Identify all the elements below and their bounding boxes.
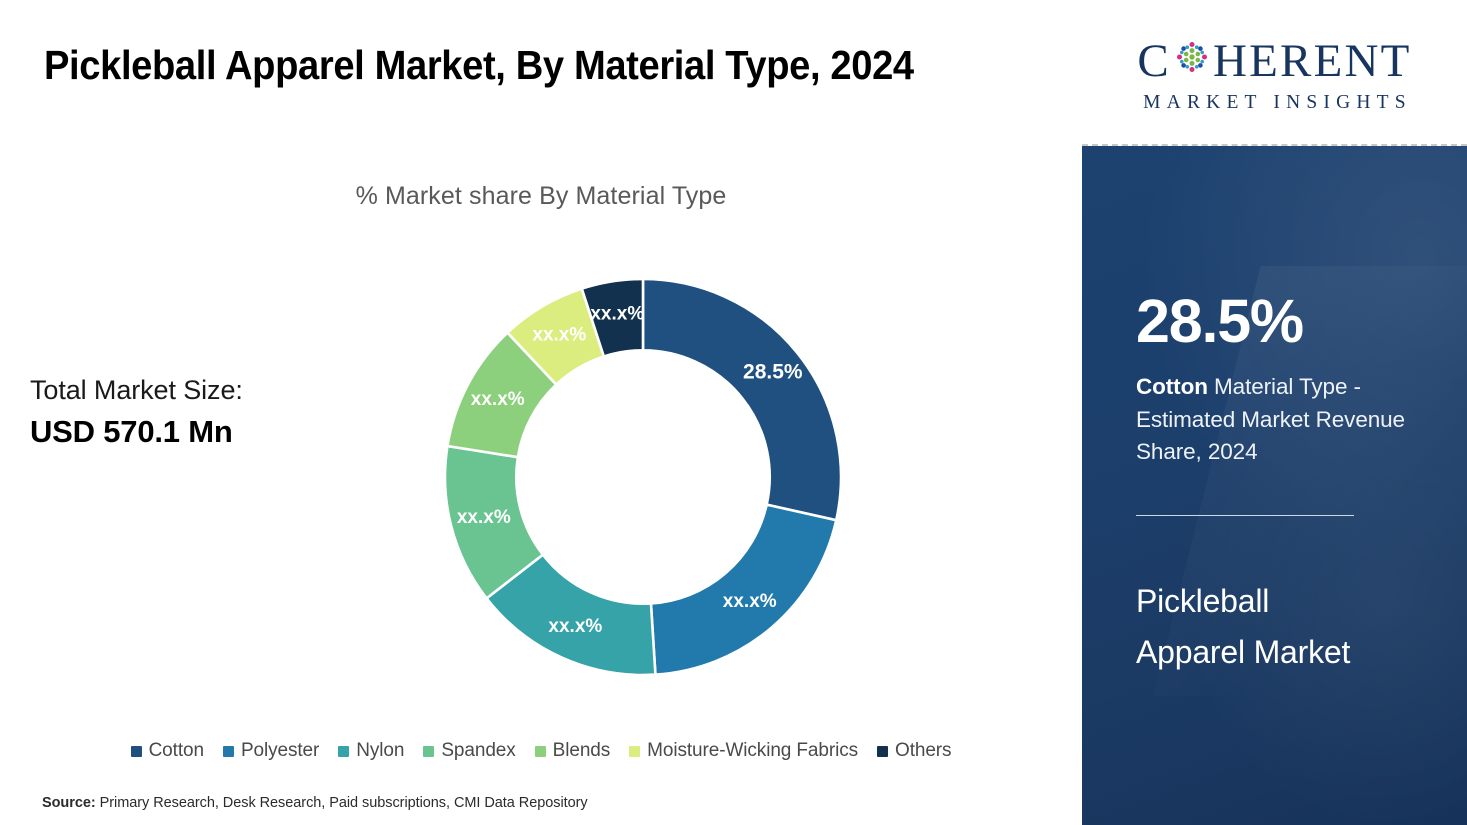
legend-swatch-polyester xyxy=(223,746,234,757)
highlight-stat-description: Cotton Material Type - Estimated Market … xyxy=(1136,371,1428,469)
total-market-size-label: Total Market Size: xyxy=(30,371,410,410)
legend-label-moisture-wicking-fabrics: Moisture-Wicking Fabrics xyxy=(647,740,858,762)
infographic-page: Pickleball Apparel Market, By Material T… xyxy=(0,0,1467,825)
brand-wordmark: C xyxy=(1137,37,1411,86)
legend-swatch-moisture-wicking-fabrics xyxy=(629,746,640,757)
highlight-content: 28.5% Cotton Material Type - Estimated M… xyxy=(1082,146,1467,678)
legend-label-cotton: Cotton xyxy=(149,740,204,762)
legend-swatch-spandex xyxy=(423,746,434,757)
donut-slice-label-spandex: xx.x% xyxy=(457,507,511,528)
legend-item-blends[interactable]: Blends xyxy=(535,740,611,762)
globe-icon xyxy=(1172,37,1212,86)
legend-label-others: Others xyxy=(895,740,951,762)
donut-slice-label-moisture-wicking-fabrics: xx.x% xyxy=(532,325,586,346)
brand-tagline: MARKET INSIGHTS xyxy=(1137,92,1412,114)
source-label: Source: xyxy=(42,795,96,811)
donut-slice-label-polyester: xx.x% xyxy=(723,591,777,612)
page-title: Pickleball Apparel Market, By Material T… xyxy=(44,36,937,94)
legend-item-polyester[interactable]: Polyester xyxy=(223,740,319,762)
total-market-size-value: USD 570.1 Mn xyxy=(30,410,410,454)
chart-subtitle: % Market share By Material Type xyxy=(0,182,1082,211)
legend-item-spandex[interactable]: Spandex xyxy=(423,740,515,762)
highlight-market-name-line1: Pickleball xyxy=(1136,576,1436,627)
highlight-divider xyxy=(1136,515,1354,516)
legend-swatch-nylon xyxy=(338,746,349,757)
source-note: Source: Primary Research, Desk Research,… xyxy=(42,795,588,811)
chart-panel: Pickleball Apparel Market, By Material T… xyxy=(0,0,1082,825)
legend-label-blends: Blends xyxy=(553,740,611,762)
donut-slice-cotton[interactable] xyxy=(643,279,841,520)
total-market-size: Total Market Size: USD 570.1 Mn xyxy=(30,371,410,454)
highlight-segment-name: Cotton xyxy=(1136,374,1208,399)
legend-item-cotton[interactable]: Cotton xyxy=(131,740,204,762)
highlight-market-name-line2: Apparel Market xyxy=(1136,627,1436,678)
highlight-stat-value: 28.5% xyxy=(1136,291,1439,352)
donut-chart: 28.5%xx.x%xx.x%xx.x%xx.x%xx.x%xx.x% xyxy=(436,270,850,684)
donut-slice-polyester[interactable] xyxy=(651,505,836,675)
brand-logo: C xyxy=(1082,0,1467,146)
legend-swatch-blends xyxy=(535,746,546,757)
legend-swatch-cotton xyxy=(131,746,142,757)
legend-item-moisture-wicking-fabrics[interactable]: Moisture-Wicking Fabrics xyxy=(629,740,858,762)
chart-legend: CottonPolyesterNylonSpandexBlendsMoistur… xyxy=(0,740,1082,762)
legend-label-spandex: Spandex xyxy=(441,740,515,762)
donut-slice-group xyxy=(445,279,841,675)
donut-slice-label-blends: xx.x% xyxy=(471,389,525,410)
donut-slice-label-nylon: xx.x% xyxy=(548,616,602,637)
legend-label-nylon: Nylon xyxy=(356,740,404,762)
highlight-market-name: Pickleball Apparel Market xyxy=(1136,576,1436,678)
highlight-panel: 28.5% Cotton Material Type - Estimated M… xyxy=(1082,146,1467,825)
legend-item-nylon[interactable]: Nylon xyxy=(338,740,404,762)
brand-logo-inner: C xyxy=(1137,31,1412,114)
legend-swatch-others xyxy=(877,746,888,757)
legend-label-polyester: Polyester xyxy=(241,740,319,762)
donut-slice-label-cotton: 28.5% xyxy=(743,361,803,384)
source-text: Primary Research, Desk Research, Paid su… xyxy=(100,795,588,811)
brand-name-part2: HERENT xyxy=(1213,38,1412,85)
legend-item-others[interactable]: Others xyxy=(877,740,951,762)
donut-chart-svg: 28.5%xx.x%xx.x%xx.x%xx.x%xx.x%xx.x% xyxy=(436,270,850,684)
brand-panel: C xyxy=(1082,0,1467,825)
brand-name-part1: C xyxy=(1137,38,1171,85)
donut-slice-label-others: xx.x% xyxy=(590,304,644,325)
